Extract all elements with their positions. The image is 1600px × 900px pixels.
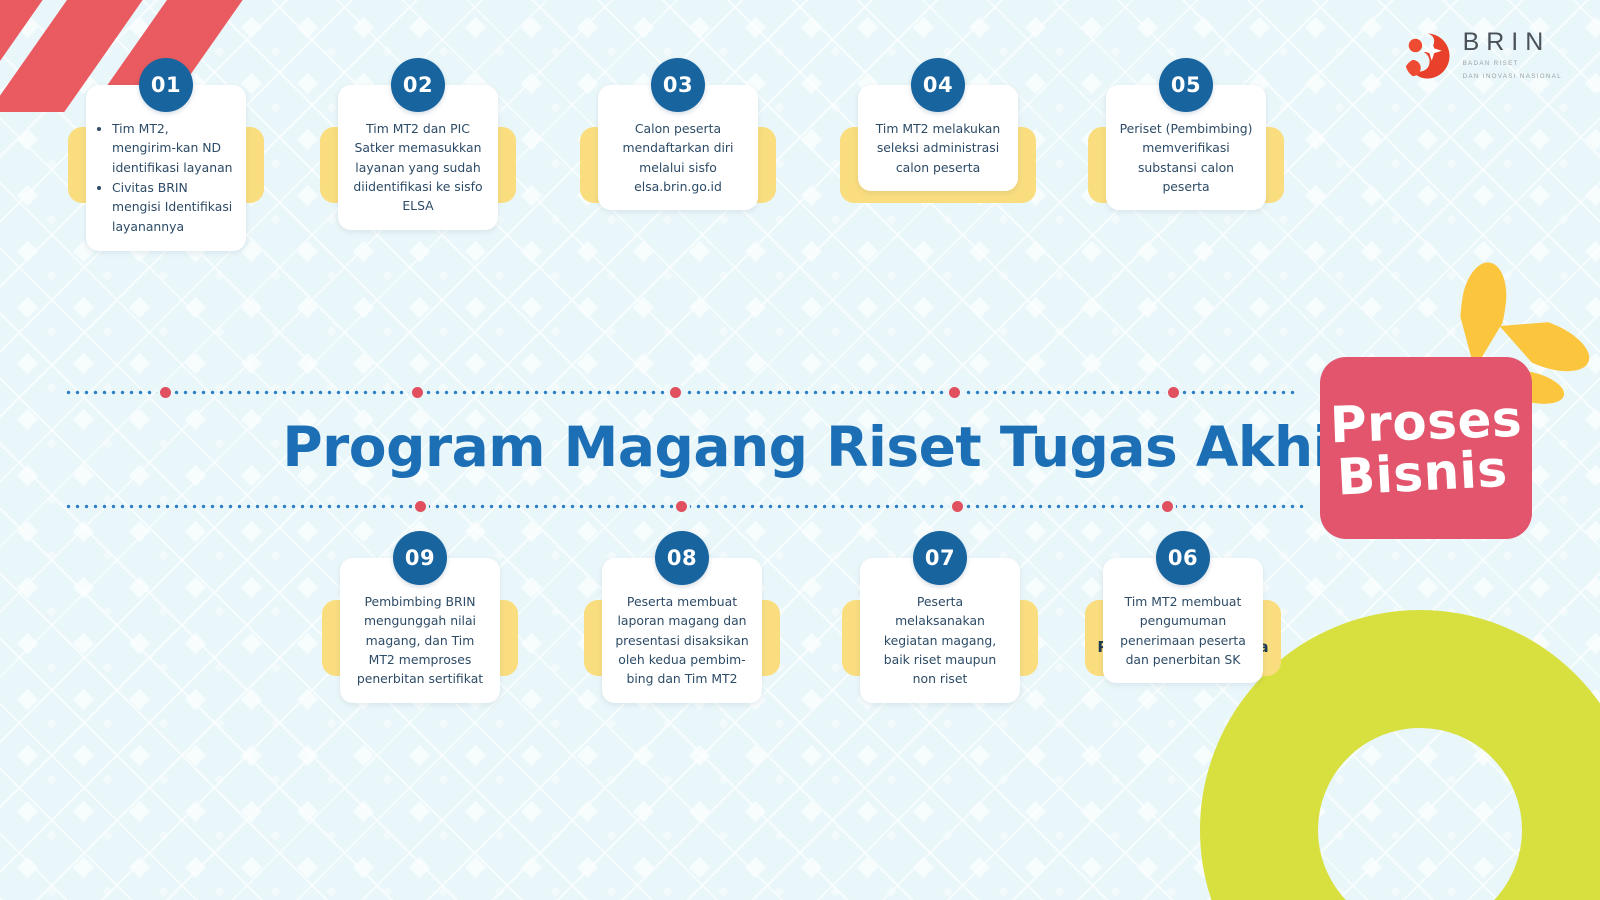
step-card-04[interactable]: Seleksi Administrasi 04 Tim MT2 melakuka… (840, 85, 1036, 191)
card-number-badge: 05 (1159, 58, 1213, 112)
card-white-panel: 05 Periset (Pembimbing) memverifikasi su… (1106, 85, 1266, 210)
card-description: Periset (Pembimbing) memverifikasi subst… (1117, 119, 1255, 196)
card-description: Tim MT2 dan PIC Satker memasukkan layana… (349, 119, 487, 216)
step-card-09[interactable]: Program Berakhir 09 Pembimbing BRIN meng… (322, 558, 518, 703)
card-number-badge: 03 (651, 58, 705, 112)
card-description: Tim MT2 melakukan seleksi administrasi c… (869, 119, 1007, 177)
step-card-08[interactable]: Evaluasi Akhir 08 Peserta membuat lapora… (584, 558, 780, 703)
brin-wordmark: BRIN BADAN RISET DAN INOVASI NASIONAL (1463, 30, 1562, 82)
card-description: Pembimbing BRIN mengunggah nilai magang,… (351, 592, 489, 689)
card-number-badge: 01 (139, 58, 193, 112)
card-number-badge: 07 (913, 531, 967, 585)
brin-name: BRIN (1463, 30, 1562, 55)
card-description: Calon peserta mendaftarkan diri melalui … (609, 119, 747, 196)
card-number-badge: 08 (655, 531, 709, 585)
timeline-dot-4 (946, 384, 963, 401)
step-card-07[interactable]: Pelaksanaan Program 07 Peserta melaksana… (842, 558, 1038, 703)
card-bullet-list: Tim MT2, mengirim-kan ND identifikasi la… (97, 119, 235, 236)
card-white-panel: 03 Calon peserta mendaftarkan diri melal… (598, 85, 758, 210)
timeline-dot-7 (673, 498, 690, 515)
step-card-01[interactable]: Identifikasi Layanan 01 Tim MT2, mengiri… (68, 85, 264, 251)
brin-tagline-line2: DAN INOVASI NASIONAL (1463, 72, 1562, 81)
card-white-panel: 09 Pembimbing BRIN mengunggah nilai maga… (340, 558, 500, 703)
brin-logo: BRIN BADAN RISET DAN INOVASI NASIONAL (1402, 30, 1562, 82)
card-description: Tim MT2 membuat pengumuman penerimaan pe… (1114, 592, 1252, 669)
proses-bisnis-badge: Proses Bisnis (1320, 357, 1532, 539)
card-white-panel: 08 Peserta membuat laporan magang dan pr… (602, 558, 762, 703)
timeline-dot-3 (667, 384, 684, 401)
card-white-panel: 06 Tim MT2 membuat pengumuman penerimaan… (1103, 558, 1263, 683)
card-number-badge: 09 (393, 531, 447, 585)
card-number-badge: 06 (1156, 531, 1210, 585)
card-number-badge: 02 (391, 58, 445, 112)
card-bullet-item: Civitas BRIN mengisi Identifikasi layana… (112, 178, 235, 236)
timeline-dot-2 (409, 384, 426, 401)
step-card-02[interactable]: Input Layanan di ELSA BRIN 02 Tim MT2 da… (320, 85, 516, 230)
badge-line-2: Bisnis (1336, 444, 1509, 504)
timeline-dot-1 (157, 384, 174, 401)
card-bullet-item: Tim MT2, mengirim-kan ND identifikasi la… (112, 119, 235, 177)
card-description: Tim MT2, mengirim-kan ND identifikasi la… (97, 119, 235, 236)
brin-mark-icon (1402, 32, 1450, 80)
card-description: Peserta membuat laporan magang dan prese… (613, 592, 751, 689)
card-white-panel: 01 Tim MT2, mengirim-kan ND identifikasi… (86, 85, 246, 251)
card-number-badge: 04 (911, 58, 965, 112)
step-card-05[interactable]: Seleksi Substansi 05 Periset (Pembimbing… (1088, 85, 1284, 210)
step-card-03[interactable]: Pendaftaran Peserta 03 Calon peserta men… (580, 85, 776, 210)
timeline-dot-9 (1159, 498, 1176, 515)
card-white-panel: 04 Tim MT2 melakukan seleksi administras… (858, 85, 1018, 191)
step-card-06[interactable]: Pengumuman Penerimaan Peserta 06 Tim MT2… (1085, 558, 1281, 683)
timeline-dot-5 (1165, 384, 1182, 401)
card-white-panel: 02 Tim MT2 dan PIC Satker memasukkan lay… (338, 85, 498, 230)
timeline-dot-8 (949, 498, 966, 515)
brin-tagline-line1: BADAN RISET (1463, 59, 1562, 68)
card-description: Peserta melaksanakan kegiatan magang, ba… (871, 592, 1009, 689)
card-white-panel: 07 Peserta melaksanakan kegiatan magang,… (860, 558, 1020, 703)
timeline-dot-6 (412, 498, 429, 515)
